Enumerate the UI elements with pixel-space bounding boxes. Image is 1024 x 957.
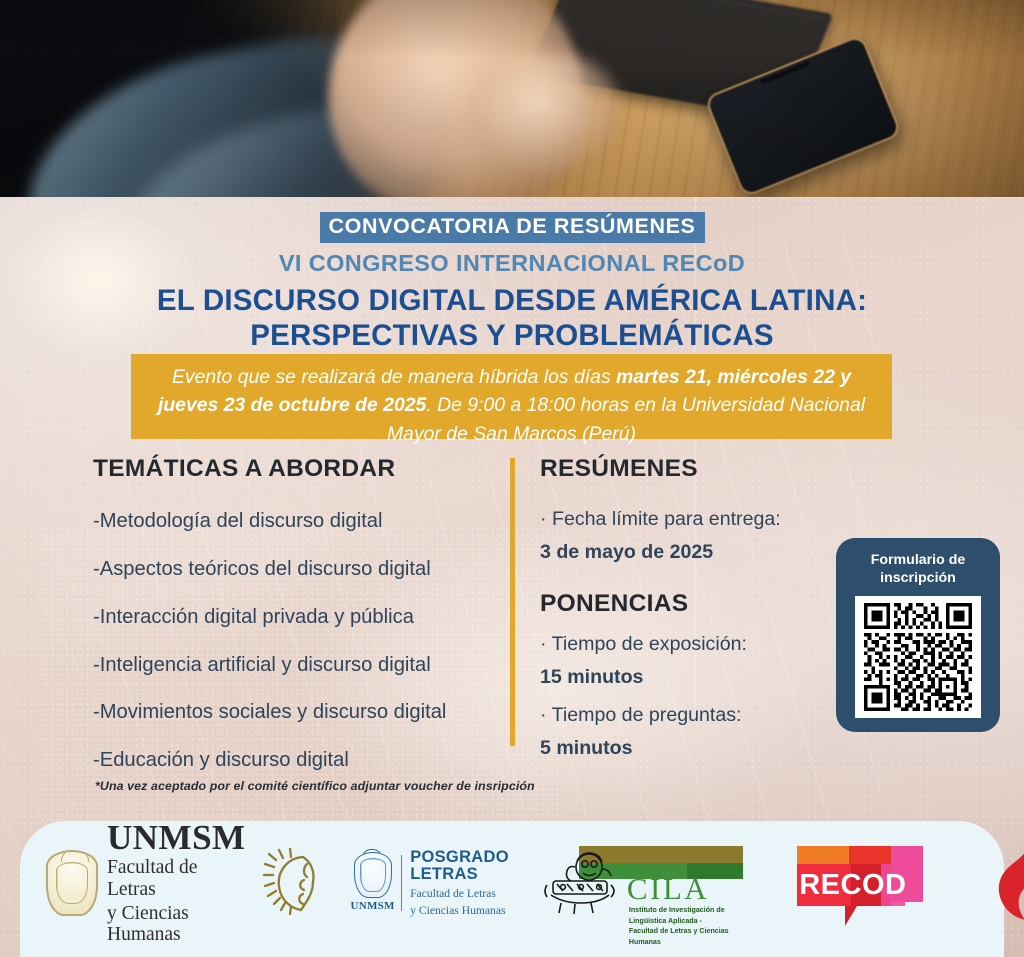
unmsm-crest-icon xyxy=(46,850,98,916)
event-text-part1: Evento que se realizará de manera híbrid… xyxy=(172,366,616,388)
deadline-label-text: Fecha límite para entrega: xyxy=(552,508,781,530)
topics-list: -Metodología del discurso digital -Aspec… xyxy=(93,509,503,774)
questions-time-value: 5 minutos xyxy=(540,736,830,761)
presentation-time-label-text: Tiempo de exposición: xyxy=(552,633,747,655)
recod-block-orange xyxy=(797,846,849,864)
congress-subtitle: VI CONGRESO INTERNACIONAL RECoD xyxy=(0,250,1024,277)
list-item: -Inteligencia artificial y discurso digi… xyxy=(93,653,503,679)
posgrado-line2: LETRAS xyxy=(410,866,509,884)
cila-stone-figure-icon xyxy=(541,851,623,917)
abstracts-heading: RESÚMENES xyxy=(540,455,830,483)
presentation-time-item: · Tiempo de exposición: 15 minutos xyxy=(540,632,830,691)
topics-column: TEMÁTICAS A ABORDAR -Metodología del dis… xyxy=(93,455,503,796)
event-details-banner: Evento que se realizará de manera híbrid… xyxy=(131,354,892,439)
questions-time-label-text: Tiempo de preguntas: xyxy=(552,704,742,726)
logo-unmsm-letras: UNMSM Facultad de Letras y Ciencias Huma… xyxy=(46,820,319,946)
questions-time-label: · Tiempo de preguntas: xyxy=(540,703,830,728)
posgrado-line1: POSGRADO xyxy=(410,849,509,867)
recod-block-red-top xyxy=(849,846,891,864)
qr-card-title-line1: Formulario de xyxy=(836,551,1000,569)
registration-qr-card[interactable]: Formulario de inscripción xyxy=(836,538,1000,732)
presentation-time-label: · Tiempo de exposición: xyxy=(540,632,830,657)
bullet-icon: · xyxy=(540,704,547,726)
page-title-line1: EL DISCURSO DIGITAL DESDE AMÉRICA LATINA… xyxy=(0,284,1024,319)
unmsm-faculty-line2: y Ciencias Humanas xyxy=(107,903,246,947)
logo-cila: CILA Instituto de Investigación de Lingü… xyxy=(535,843,743,923)
posgrado-crest-name: UNMSM xyxy=(350,900,394,912)
questions-time-item: · Tiempo de preguntas: 5 minutos xyxy=(540,703,830,762)
topics-heading: TEMÁTICAS A ABORDAR xyxy=(93,455,503,483)
footer-logos-bar: UNMSM Facultad de Letras y Ciencias Huma… xyxy=(20,821,1004,957)
qr-code-icon[interactable] xyxy=(855,596,981,718)
cila-subtitle-line1: Instituto de Investigación de Lingüístic… xyxy=(629,905,743,926)
bullet-icon: · xyxy=(540,633,547,655)
qr-card-title: Formulario de inscripción xyxy=(836,551,1000,587)
posgrado-crest-icon: UNMSM xyxy=(353,852,393,914)
bullet-icon: · xyxy=(540,508,547,530)
posgrado-divider xyxy=(401,855,403,911)
posgrado-crest-shield xyxy=(354,852,392,898)
logo-recod: RECOD xyxy=(787,842,929,924)
footer-logo-row: UNMSM Facultad de Letras y Ciencias Huma… xyxy=(20,821,1004,945)
cila-subtitle-line2: Facultad de Letras y Ciencias Humanas xyxy=(629,926,743,947)
page-title-line2: PERSPECTIVAS Y PROBLEMÁTICAS xyxy=(0,319,1024,354)
cila-subtitle: Instituto de Investigación de Lingüístic… xyxy=(629,905,743,948)
hero-vignette xyxy=(0,0,1024,197)
upc-flame-icon xyxy=(985,840,1024,926)
deadline-item: · Fecha límite para entrega: 3 de mayo d… xyxy=(540,507,830,566)
deadline-value: 3 de mayo de 2025 xyxy=(540,540,830,565)
unmsm-name: UNMSM xyxy=(107,820,246,855)
posgrado-wordmark: POSGRADO LETRAS Facultad de Letras y Cie… xyxy=(410,849,509,918)
unmsm-wordmark: UNMSM Facultad de Letras y Ciencias Huma… xyxy=(107,820,246,946)
letras-face-icon xyxy=(263,848,319,918)
talks-heading: PONENCIAS xyxy=(540,590,830,618)
deadline-label: · Fecha límite para entrega: xyxy=(540,507,830,532)
kicker-banner: CONVOCATORIA DE RESÚMENES xyxy=(0,212,1024,243)
recod-name: RECOD xyxy=(797,864,909,906)
page-title: EL DISCURSO DIGITAL DESDE AMÉRICA LATINA… xyxy=(0,284,1024,353)
recod-speech-tail-icon xyxy=(845,906,867,926)
unmsm-faculty-line1: Facultad de Letras xyxy=(107,857,246,901)
hero-photo xyxy=(0,0,1024,197)
logo-posgrado-letras: UNMSM POSGRADO LETRAS Facultad de Letras… xyxy=(353,849,509,918)
posgrado-faculty-line1: Facultad de Letras xyxy=(410,887,509,901)
presentation-time-value: 15 minutos xyxy=(540,665,830,690)
footnote-text: *Una vez aceptado por el comité científi… xyxy=(95,779,535,793)
poster-root: CONVOCATORIA DE RESÚMENES VI CONGRESO IN… xyxy=(0,0,1024,957)
posgrado-faculty-line2: y Ciencias Humanas xyxy=(410,904,509,918)
abstracts-column: RESÚMENES · Fecha límite para entrega: 3… xyxy=(540,455,830,762)
list-item: -Interacción digital privada y pública xyxy=(93,605,503,631)
cila-name: CILA xyxy=(627,873,709,904)
kicker-text: CONVOCATORIA DE RESÚMENES xyxy=(320,212,705,243)
column-divider xyxy=(510,458,515,746)
qr-card-title-line2: inscripción xyxy=(836,569,1000,587)
list-item: -Aspectos teóricos del discurso digital xyxy=(93,557,503,583)
list-item: -Movimientos sociales y discurso digital xyxy=(93,700,503,726)
list-item: -Metodología del discurso digital xyxy=(93,509,503,535)
event-text-part2: . De 9:00 a 18:00 horas en la Universida… xyxy=(387,394,865,444)
list-item: -Educación y discurso digital xyxy=(93,748,503,774)
